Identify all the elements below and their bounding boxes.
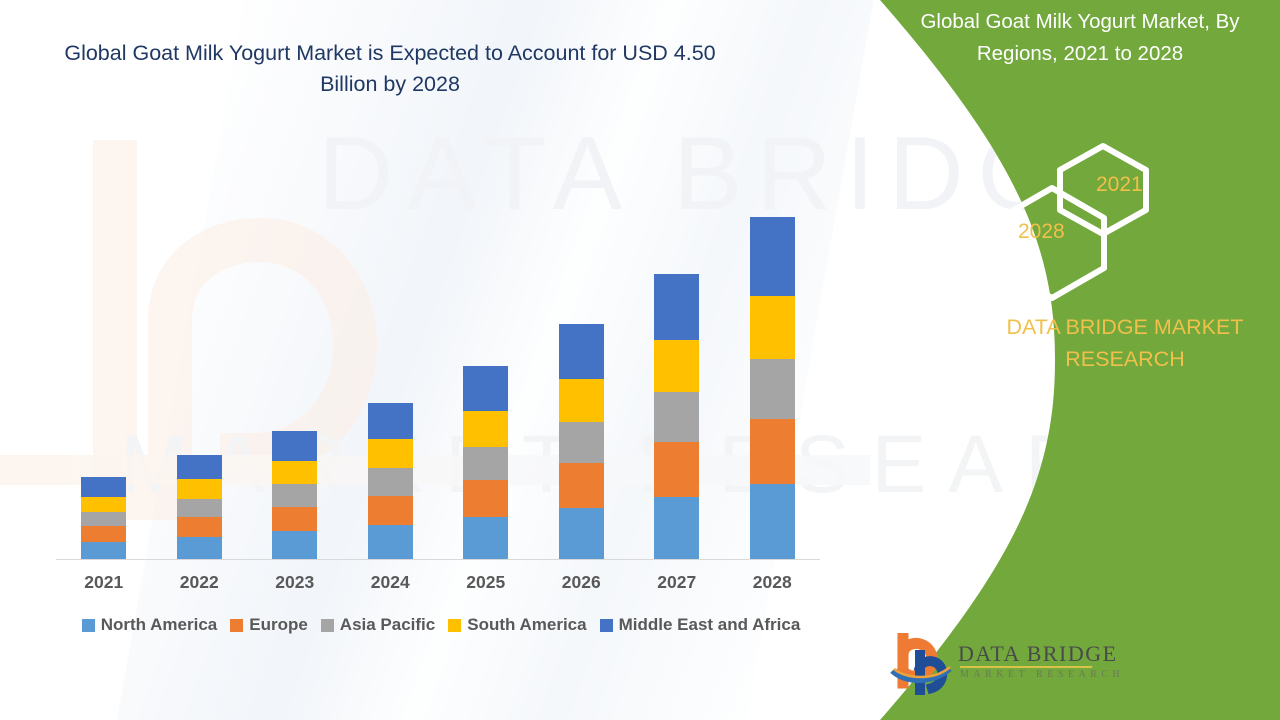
x-axis-tick-label: 2027 — [629, 572, 725, 593]
bar-segment — [81, 477, 126, 496]
bar-segment — [750, 359, 795, 419]
bar-segment — [559, 324, 604, 379]
legend-item[interactable]: Asia Pacific — [321, 615, 435, 635]
legend-swatch-icon — [448, 619, 461, 632]
bar-segment — [654, 340, 699, 392]
x-axis-tick-label: 2022 — [152, 572, 248, 593]
legend-item[interactable]: Europe — [230, 615, 308, 635]
bar-segment — [81, 526, 126, 541]
bar-column — [343, 150, 439, 559]
legend-label: Europe — [249, 615, 308, 635]
bar-stack — [654, 274, 699, 559]
bar-segment — [654, 442, 699, 496]
x-axis-tick-label: 2023 — [247, 572, 343, 593]
bar-column — [438, 150, 534, 559]
bar-segment — [654, 274, 699, 340]
bar-segment — [559, 463, 604, 508]
brand-name: DATA BRIDGE MARKET RESEARCH — [965, 311, 1280, 375]
bar-segment — [463, 517, 508, 559]
panel-title: Global Goat Milk Yogurt Market, By Regio… — [880, 6, 1280, 70]
bar-segment — [368, 496, 413, 526]
logo-divider — [960, 666, 1092, 668]
bar-segment — [177, 537, 222, 559]
legend-item[interactable]: North America — [82, 615, 218, 635]
bar-segment — [368, 468, 413, 496]
bar-segment — [654, 392, 699, 442]
bar-segment — [272, 531, 317, 559]
bar-segment — [368, 525, 413, 559]
bar-segment — [272, 484, 317, 506]
bar-segment — [463, 366, 508, 411]
x-axis-line — [56, 559, 820, 560]
bar-stack — [368, 403, 413, 559]
hexagon-2028-label: 2028 — [1018, 220, 1065, 244]
bar-segment — [272, 431, 317, 461]
bar-segment — [463, 480, 508, 517]
logo-b-mark-icon — [890, 633, 956, 695]
x-axis-tick-label: 2026 — [534, 572, 630, 593]
x-axis-labels: 20212022202320242025202620272028 — [56, 572, 820, 593]
bar-column — [152, 150, 248, 559]
bar-segment — [177, 479, 222, 498]
chart-title: Global Goat Milk Yogurt Market is Expect… — [40, 38, 740, 100]
legend-label: South America — [467, 615, 586, 635]
bar-stack — [272, 431, 317, 559]
bar-column — [247, 150, 343, 559]
bar-stack — [463, 366, 508, 559]
legend-swatch-icon — [230, 619, 243, 632]
bar-segment — [750, 217, 795, 297]
chart-legend: North AmericaEuropeAsia PacificSouth Ame… — [56, 615, 826, 635]
x-axis-tick-label: 2028 — [725, 572, 821, 593]
bar-segment — [81, 512, 126, 526]
logo-wordmark: DATA BRIDGE — [958, 641, 1118, 667]
bar-segment — [654, 497, 699, 559]
logo-subtitle: MARKET RESEARCH — [960, 669, 1124, 680]
bar-column — [629, 150, 725, 559]
bar-segment — [177, 455, 222, 480]
x-axis-tick-label: 2024 — [343, 572, 439, 593]
bar-column — [534, 150, 630, 559]
bar-segment — [177, 499, 222, 517]
x-axis-tick-label: 2025 — [438, 572, 534, 593]
bar-segment — [272, 461, 317, 485]
bar-segment — [559, 379, 604, 422]
bar-segment — [81, 542, 126, 559]
legend-label: North America — [101, 615, 218, 635]
hexagon-group: 2028 2021 — [988, 140, 1188, 275]
legend-swatch-icon — [321, 619, 334, 632]
bar-stack — [81, 477, 126, 559]
x-axis-tick-label: 2021 — [56, 572, 152, 593]
bar-segment — [368, 439, 413, 468]
bar-segment — [750, 419, 795, 484]
hexagon-2021-label: 2021 — [1096, 173, 1143, 197]
chart-plot-area — [56, 150, 820, 560]
bar-stack — [177, 455, 222, 559]
bar-segment — [272, 507, 317, 532]
company-logo: DATA BRIDGE MARKET RESEARCH — [890, 633, 1100, 705]
legend-swatch-icon — [600, 619, 613, 632]
bar-segment — [463, 447, 508, 481]
bar-segment — [368, 403, 413, 440]
bar-segment — [559, 508, 604, 559]
bar-segment — [463, 411, 508, 447]
bar-stack — [559, 324, 604, 559]
bar-column — [725, 150, 821, 559]
legend-swatch-icon — [82, 619, 95, 632]
slide-canvas: DATA BRIDGE MARKET RESEARCH Global Goat … — [0, 0, 1280, 720]
legend-item[interactable]: South America — [448, 615, 586, 635]
bar-segment — [559, 422, 604, 463]
bar-segment — [750, 296, 795, 358]
legend-label: Asia Pacific — [340, 615, 435, 635]
bar-segment — [81, 497, 126, 512]
bar-segment — [177, 517, 222, 536]
legend-item[interactable]: Middle East and Africa — [600, 615, 801, 635]
bar-stack — [750, 217, 795, 560]
bar-segment — [750, 484, 795, 559]
bar-group — [56, 150, 820, 559]
bar-column — [56, 150, 152, 559]
legend-label: Middle East and Africa — [619, 615, 801, 635]
